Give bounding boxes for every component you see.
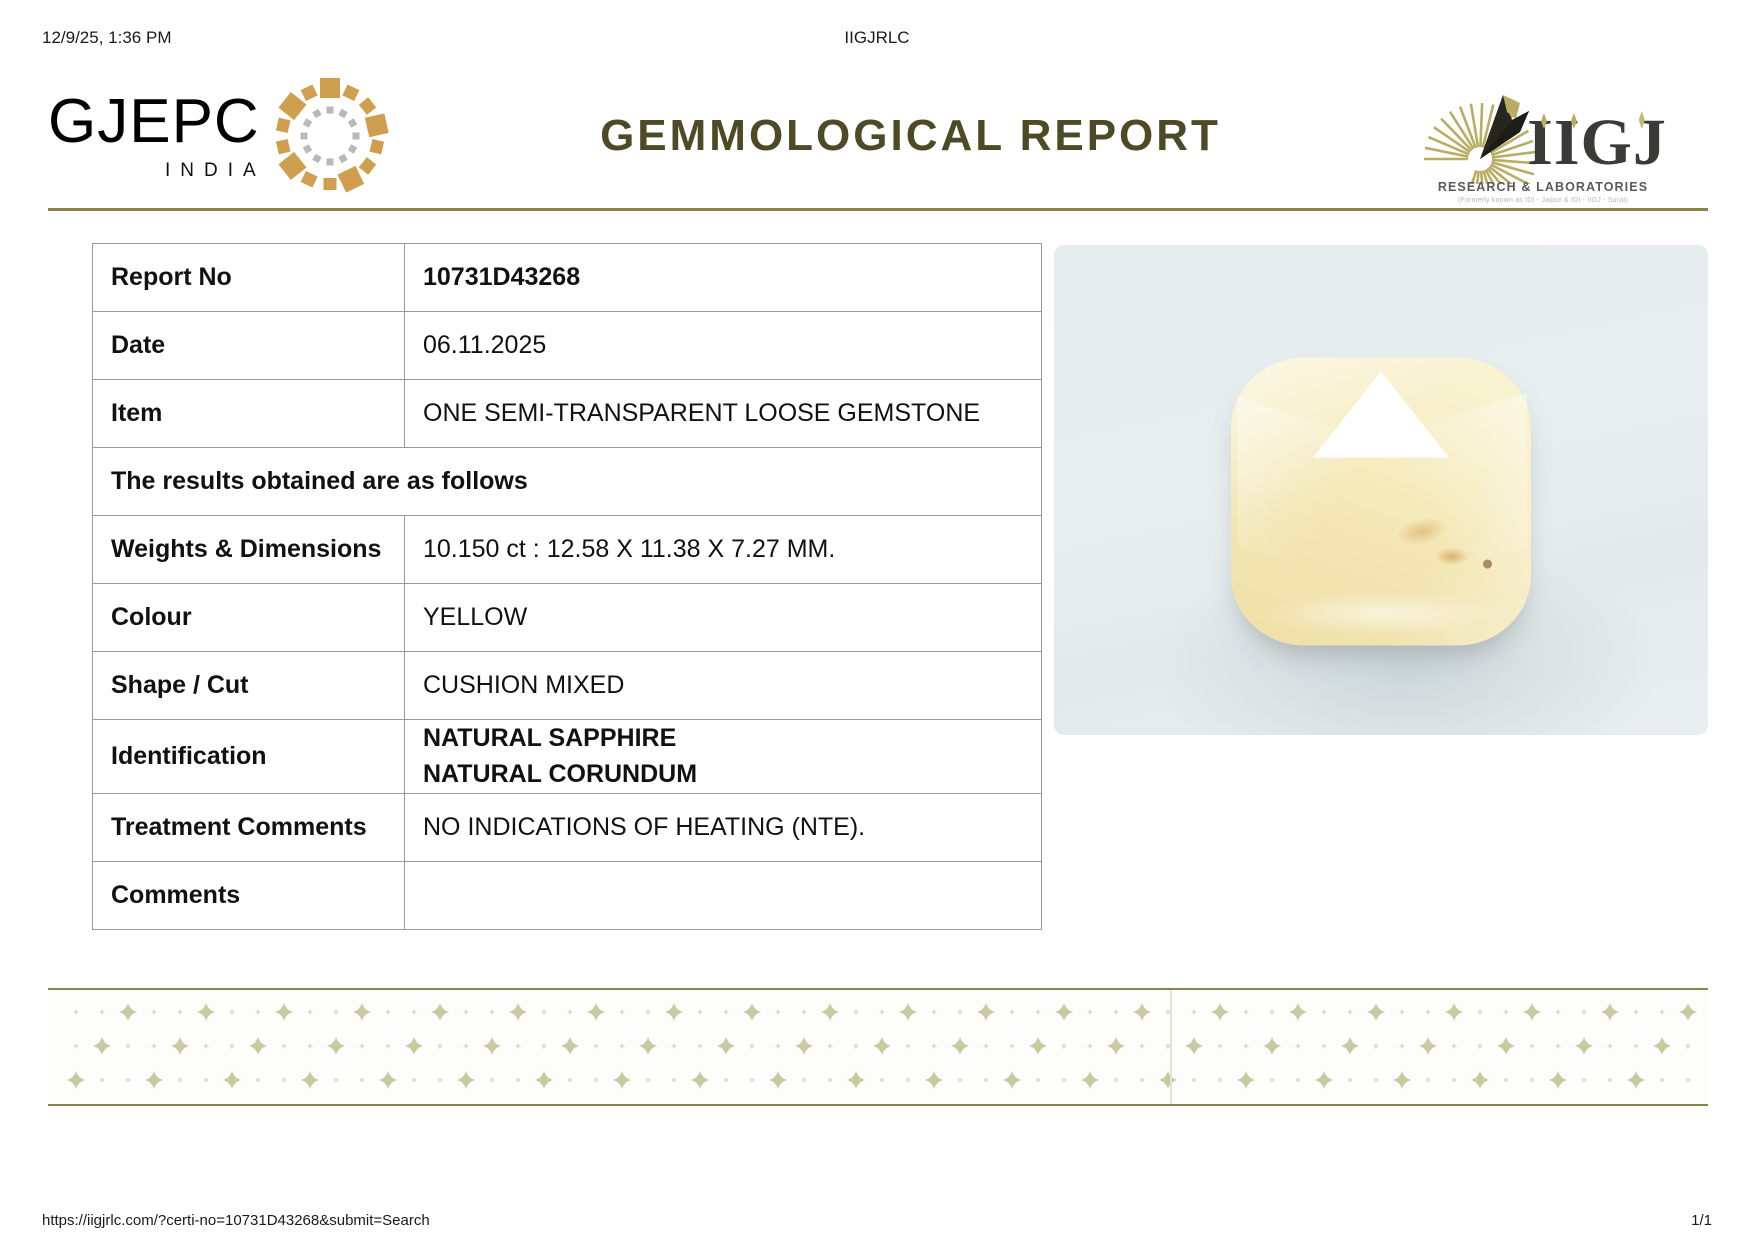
table-row: Date 06.11.2025: [93, 312, 1042, 380]
table-row: Comments: [93, 861, 1042, 929]
gjepc-country: INDIA: [165, 160, 266, 182]
row-label: Identification: [93, 720, 405, 794]
table-row: Treatment Comments NO INDICATIONS OF HEA…: [93, 793, 1042, 861]
header-divider: [48, 208, 1708, 211]
row-value: NO INDICATIONS OF HEATING (NTE).: [405, 793, 1042, 861]
table-row: Report No 10731D43268: [93, 244, 1042, 312]
row-value: 10731D43268: [405, 244, 1042, 312]
row-value: CUSHION MIXED: [405, 652, 1042, 720]
row-value: NATURAL SAPPHIRE NATURAL CORUNDUM: [405, 720, 1042, 794]
gjepc-wordmark: GJEPC INDIA: [48, 91, 260, 182]
table-row: Weights & Dimensions 10.150 ct : 12.58 X…: [93, 516, 1042, 584]
row-value: [405, 861, 1042, 929]
section-heading: The results obtained are as follows: [93, 448, 1042, 516]
sparkle-pattern: [48, 990, 1708, 1104]
gemstone-photo-container: [1054, 243, 1708, 930]
row-label: Date: [93, 312, 405, 380]
table-row: Item ONE SEMI-TRANSPARENT LOOSE GEMSTONE: [93, 380, 1042, 448]
gem-inclusion: [1483, 559, 1492, 568]
row-label: Item: [93, 380, 405, 448]
table-row: Shape / Cut CUSHION MIXED: [93, 652, 1042, 720]
iigj-logo: IIGJ RESEARCH & LABORATORIES (Formerly k…: [1378, 62, 1708, 210]
gemstone-shape: [1231, 358, 1531, 646]
row-value: YELLOW: [405, 584, 1042, 652]
table-row: Colour YELLOW: [93, 584, 1042, 652]
iigj-fineprint: (Formerly known as IDI - Jaipur & IDI - …: [1458, 197, 1628, 204]
security-pattern-band: [48, 988, 1708, 1106]
brand-header: GJEPC INDIA GEMMOLOGICAL REPORT: [48, 62, 1708, 210]
row-value: 10.150 ct : 12.58 X 11.38 X 7.27 MM.: [405, 516, 1042, 584]
gemstone-photo: [1054, 245, 1708, 735]
gemmological-report-page: 12/9/25, 1:36 PM IIGJRLC GJEPC INDIA GEM…: [0, 0, 1754, 1240]
print-document-title: IIGJRLC: [0, 28, 1754, 48]
table-row-section-heading: The results obtained are as follows: [93, 448, 1042, 516]
row-value: 06.11.2025: [405, 312, 1042, 380]
row-label: Colour: [93, 584, 405, 652]
iigj-mark-row: IIGJ: [1419, 68, 1667, 176]
iigj-wordmark: IIGJ: [1527, 110, 1667, 176]
identification-line-2: NATURAL CORUNDUM: [423, 756, 1041, 792]
page-number: 1/1: [1691, 1212, 1712, 1229]
table-row-identification: Identification NATURAL SAPPHIRE NATURAL …: [93, 720, 1042, 794]
row-label: Weights & Dimensions: [93, 516, 405, 584]
row-label: Comments: [93, 861, 405, 929]
identification-line-1: NATURAL SAPPHIRE: [423, 720, 1041, 756]
band-divider: [1170, 990, 1172, 1104]
page-title: GEMMOLOGICAL REPORT: [433, 111, 1378, 161]
gem-inclusion: [1435, 548, 1469, 566]
row-label: Report No: [93, 244, 405, 312]
radial-burst-icon: [266, 72, 394, 200]
report-details-table: Report No 10731D43268 Date 06.11.2025 It…: [92, 243, 1042, 930]
gem-girdle-highlight: [1267, 592, 1495, 636]
sparkle-icon: [1527, 108, 1667, 134]
starburst-icon: [1419, 62, 1541, 184]
row-value: ONE SEMI-TRANSPARENT LOOSE GEMSTONE: [405, 380, 1042, 448]
row-label: Shape / Cut: [93, 652, 405, 720]
report-body: Report No 10731D43268 Date 06.11.2025 It…: [0, 243, 1754, 930]
print-header: 12/9/25, 1:36 PM IIGJRLC: [0, 28, 1754, 48]
iigj-subtitle: RESEARCH & LABORATORIES: [1438, 180, 1648, 194]
gjepc-name: GJEPC: [48, 91, 260, 153]
gem-table-facet: [1313, 372, 1449, 458]
row-label: Treatment Comments: [93, 793, 405, 861]
source-url: https://iigjrlc.com/?certi-no=10731D4326…: [42, 1212, 430, 1229]
gjepc-logo: GJEPC INDIA: [48, 72, 433, 200]
